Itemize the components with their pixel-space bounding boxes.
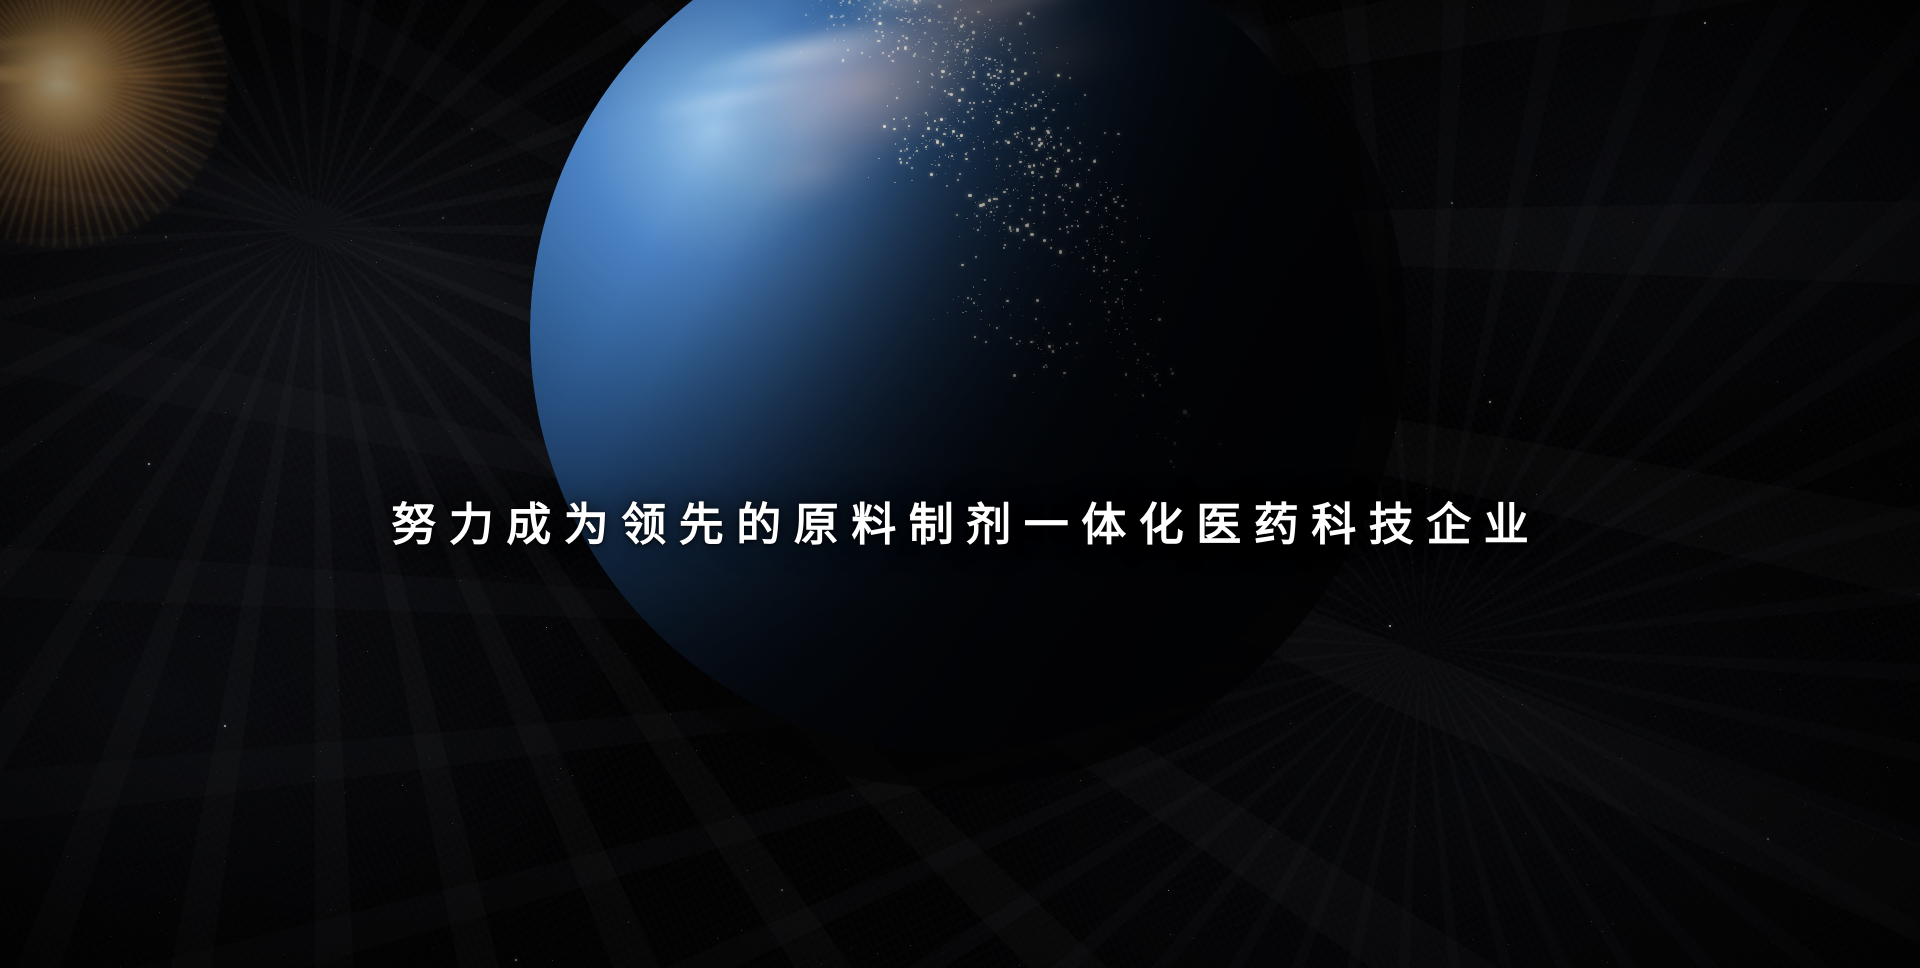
hero-headline: 努力成为领先的原料制剂一体化医药科技企业 <box>379 498 1542 553</box>
headline-layer: 努力成为领先的原料制剂一体化医药科技企业 <box>0 498 1920 553</box>
hero-banner-stage: 努力成为领先的原料制剂一体化医药科技企业 <box>0 0 1920 968</box>
space-background <box>0 0 1920 968</box>
